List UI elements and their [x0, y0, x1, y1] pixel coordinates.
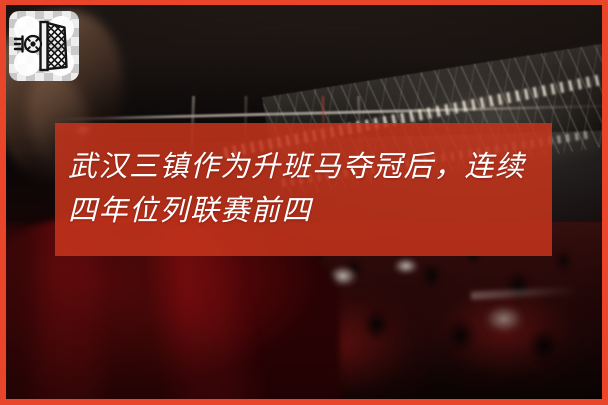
goal-net-icon: [9, 11, 79, 81]
caption-banner: 武汉三镇作为升班马夺冠后，连续四年位列联赛前四: [55, 123, 552, 256]
crowd-cap: [483, 304, 525, 334]
caption-text: 武汉三镇作为升班马夺冠后，连续四年位列联赛前四: [68, 145, 542, 233]
crowd-cap: [393, 257, 419, 275]
goal-net-logo: [9, 11, 79, 81]
cover-image: 武汉三镇作为升班马夺冠后，连续四年位列联赛前四: [0, 0, 608, 405]
